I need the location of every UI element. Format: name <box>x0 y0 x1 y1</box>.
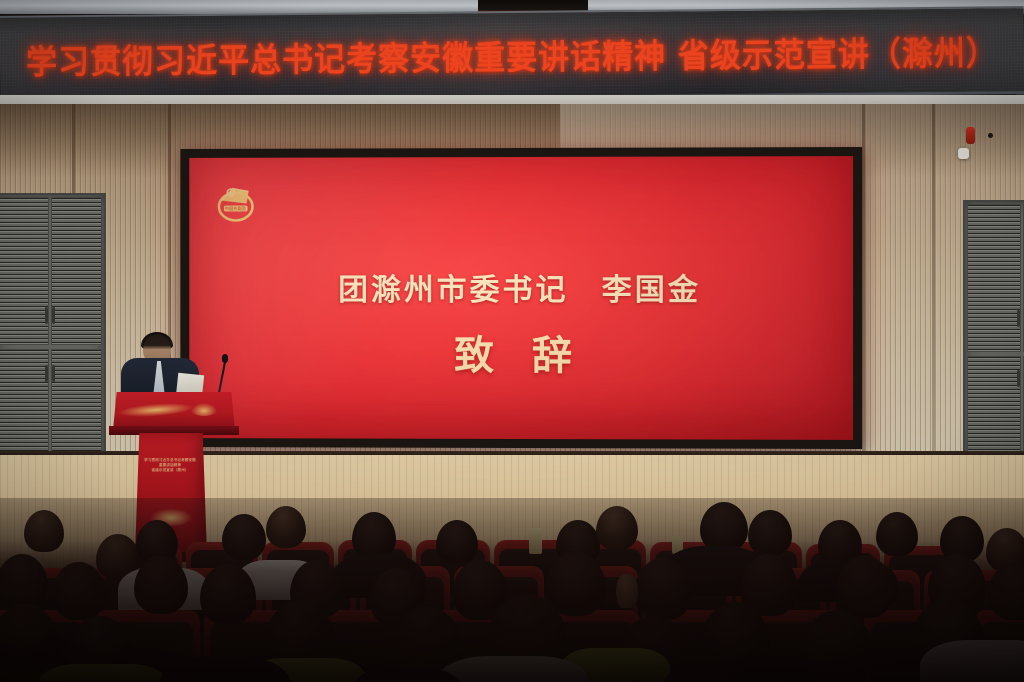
led-banner: 学习贯彻习近平总书记考察安徽重要讲话精神 省级示范宣讲（滁州） <box>0 6 1024 104</box>
projection-screen: 中国共青团 团滁州市委书记 李国金 致 辞 <box>180 147 862 449</box>
louver-panel <box>967 204 1021 352</box>
podium-gold-cloud-motif <box>191 403 217 416</box>
audience-darkening <box>0 498 1024 682</box>
wall-speaker-device <box>958 148 969 159</box>
audience-area <box>0 498 1024 682</box>
door-handle[interactable] <box>45 365 48 382</box>
wall-seam <box>862 104 865 490</box>
wall-seam <box>932 104 935 490</box>
screen-vignette <box>189 156 853 440</box>
door-handle[interactable] <box>52 365 55 382</box>
door-handle[interactable] <box>45 307 48 324</box>
louver-panel <box>0 197 49 345</box>
wall-sensor-dot <box>988 133 993 138</box>
microphone-head <box>222 354 228 363</box>
screen-surface: 中国共青团 团滁州市委书记 李国金 致 辞 <box>189 156 853 440</box>
conference-hall-photo: 学习贯彻习近平总书记考察安徽重要讲话精神 省级示范宣讲（滁州） <box>0 0 1024 682</box>
door-handle[interactable] <box>52 307 55 324</box>
door-handle[interactable] <box>1017 310 1020 327</box>
led-banner-text: 学习贯彻习近平总书记考察安徽重要讲话精神 省级示范宣讲（滁州） <box>26 26 998 84</box>
door-handle[interactable] <box>1017 370 1020 387</box>
podium-caption: 学习贯彻习近平总书记考察安徽 重要讲话精神 省级示范宣讲（滁州） <box>139 458 201 473</box>
louver-panel <box>51 197 102 345</box>
podium-caption-line-3: 省级示范宣讲（滁州） <box>139 468 201 473</box>
wall-alarm-device <box>966 127 975 144</box>
